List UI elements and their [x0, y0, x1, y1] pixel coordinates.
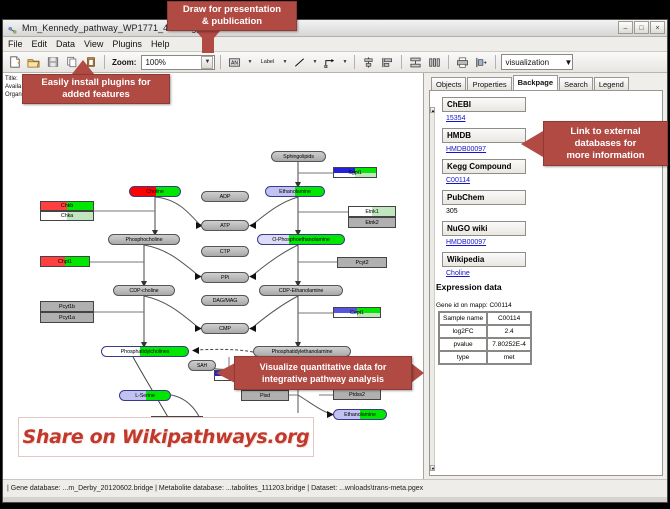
node-cmp[interactable]: CMP	[201, 323, 249, 334]
scroll-down-arrow[interactable]: ▼	[430, 465, 435, 471]
expr-val-pvalue: 7.80252E-4	[487, 338, 531, 351]
canvas-info-block: Title: Availa Organi	[5, 75, 23, 99]
toolbar-separator	[104, 55, 105, 69]
toolbar-separator	[220, 55, 221, 69]
table-row: type met	[439, 351, 531, 364]
node-etnk2[interactable]: Etnk2	[348, 217, 396, 228]
expr-key-sample-name: Sample name	[439, 312, 487, 325]
datanode-icon[interactable]: AN	[226, 54, 243, 71]
node-cdp-ethanolamine[interactable]: CDP-Ethanolamine	[259, 285, 343, 296]
tab-objects[interactable]: Objects	[431, 77, 466, 91]
node-label: DAG/MAG	[213, 298, 238, 304]
node-label: Etnk1	[365, 209, 378, 215]
title-bar: Mm_Kennedy_pathway_WP1771_45176.gpml – □…	[3, 20, 667, 37]
align-center-icon[interactable]	[360, 54, 377, 71]
chevron-down-icon[interactable]: ▼	[565, 58, 573, 67]
toolbar-separator	[448, 55, 449, 69]
node-label: Etnk2	[365, 220, 378, 226]
callout-share: Share on Wikipathways.org	[18, 417, 314, 457]
zoom-value: 100%	[145, 58, 165, 67]
menu-item-data[interactable]: Data	[56, 39, 75, 49]
callout-links-line1: Link to external	[570, 126, 640, 138]
node-label: ATP	[220, 223, 230, 229]
toolbar-separator	[495, 55, 496, 69]
db-link-chebi[interactable]: 15354	[446, 115, 465, 122]
toolbar-separator	[401, 55, 402, 69]
canvas-info-title: Title:	[5, 75, 23, 83]
new-document-icon[interactable]	[6, 54, 23, 71]
toolbar-separator	[354, 55, 355, 69]
toolbar: Zoom: 100% ▼ AN ▼ Label ▼ ▼ ▼	[3, 52, 667, 73]
menu-item-help[interactable]: Help	[151, 39, 170, 49]
node-label: CMP	[219, 326, 231, 332]
window-buttons: – □ ×	[618, 21, 665, 34]
node-sphingolipids[interactable]: Sphingolipids	[271, 151, 326, 162]
save-disk-icon[interactable]	[44, 54, 61, 71]
visualization-combo[interactable]: visualization ▼	[501, 54, 573, 70]
chevron-down-icon[interactable]: ▼	[201, 56, 213, 69]
open-folder-icon[interactable]	[25, 54, 42, 71]
scroll-up-arrow[interactable]: ▲	[430, 107, 435, 113]
node-ethanolamine-top[interactable]: Ethanolamine	[265, 186, 325, 197]
tab-backpage[interactable]: Backpage	[513, 75, 558, 90]
db-header-kegg-compound: Kegg Compound	[442, 159, 526, 174]
label-tool-text: Label	[261, 59, 274, 65]
svg-text:AN: AN	[231, 60, 238, 66]
canvas-info-organism: Organi	[5, 91, 23, 99]
node-phosphocholine[interactable]: Phosphocholine	[108, 234, 180, 245]
backpage-scrollbar[interactable]: ▲ ▼	[430, 113, 435, 465]
node-label: Pcyt1a	[59, 315, 75, 321]
callout-visualize-left-arrow	[216, 363, 235, 383]
callout-visualize-line2: integrative pathway analysis	[262, 373, 384, 385]
line-tool-icon[interactable]	[291, 54, 308, 71]
callout-plugins: Easily install plugins for added feature…	[22, 74, 170, 104]
distribute-icon[interactable]	[426, 54, 443, 71]
db-header-chebi: ChEBI	[442, 97, 526, 112]
label-tool-button[interactable]: Label	[256, 54, 278, 71]
node-cdp-choline[interactable]: CDP-choline	[113, 285, 175, 296]
node-label: Sphingolipids	[283, 154, 314, 160]
node-l-serine-left[interactable]: L-Serine	[119, 390, 171, 401]
node-label: Chpt1	[58, 259, 72, 265]
menu-item-plugins[interactable]: Plugins	[112, 39, 142, 49]
node-chpt1[interactable]: Chpt1	[40, 256, 90, 267]
db-header-pubchem: PubChem	[442, 190, 526, 205]
table-row: log2FC 2.4	[439, 325, 531, 338]
zoom-combo[interactable]: 100% ▼	[141, 55, 215, 70]
node-ethanolamine-bottom[interactable]: Ethanolamine	[333, 409, 387, 420]
callout-links-arrow	[521, 131, 543, 157]
status-bar: | Gene database: ...m_Derby_20120602.bri…	[3, 479, 667, 497]
node-label: Cept1	[350, 310, 364, 316]
callout-draw-line1: Draw for presentation	[183, 4, 281, 16]
callout-draw-arrow-stem	[202, 31, 214, 53]
gene-id-line: Gene id on mapp: C00114	[436, 302, 662, 309]
datanode-dropdown-icon[interactable]: ▼	[245, 54, 254, 71]
db-link-nugo-wiki[interactable]: HMDB00097	[446, 239, 486, 246]
close-button[interactable]: ×	[650, 21, 665, 34]
node-chkb[interactable]: Chkb	[40, 201, 94, 211]
label-dropdown-icon[interactable]: ▼	[280, 54, 289, 71]
db-value-pubchem: 305	[446, 208, 458, 215]
node-label: Ethanolamine	[279, 189, 311, 195]
node-adp[interactable]: ADP	[201, 191, 249, 202]
node-label: Phosphatidylcholines	[121, 349, 170, 355]
node-atp[interactable]: ATP	[201, 220, 249, 231]
node-pisd[interactable]: Pisd	[241, 390, 289, 401]
callout-plugins-line2: added features	[62, 89, 130, 101]
tab-legend[interactable]: Legend	[594, 77, 629, 91]
db-link-wikipedia[interactable]: Choline	[446, 270, 470, 277]
node-pcyt1b[interactable]: Pcyt1b	[40, 301, 94, 312]
interaction-tool-icon[interactable]	[321, 54, 338, 71]
node-label: PPi	[221, 275, 229, 281]
table-row: pvalue 7.80252E-4	[439, 338, 531, 351]
node-chka[interactable]: Chka	[40, 211, 94, 221]
status-bar-text: | Gene database: ...m_Derby_20120602.bri…	[7, 485, 423, 492]
minimize-button[interactable]: –	[618, 21, 633, 34]
bring-to-front-icon[interactable]	[473, 54, 490, 71]
node-label: Choline	[146, 189, 164, 195]
callout-links-line2: databases for	[575, 138, 637, 150]
node-label: CTP	[220, 249, 230, 255]
db-header-nugo-wiki: NuGO wiki	[442, 221, 526, 236]
callout-share-text: Share on Wikipathways.org	[23, 426, 310, 448]
node-ppi[interactable]: PPi	[201, 272, 249, 283]
node-label: CDP-choline	[129, 288, 158, 294]
expr-key-pvalue: pvalue	[439, 338, 487, 351]
print-icon[interactable]	[454, 54, 471, 71]
node-label: Chka	[61, 213, 73, 219]
node-label: Phosphocholine	[126, 237, 163, 243]
expr-val-sample-name: C00114	[487, 312, 531, 325]
node-label: Pcyt2	[356, 260, 369, 266]
node-etnk1[interactable]: Etnk1	[348, 206, 396, 217]
canvas-info-availability: Availa	[5, 83, 23, 91]
expr-val-type: met	[487, 351, 531, 364]
node-label: CDP-Ethanolamine	[279, 288, 324, 294]
menu-bar: File Edit Data View Plugins Help	[3, 37, 667, 52]
tab-properties[interactable]: Properties	[467, 77, 511, 91]
node-label: SAH	[197, 363, 207, 369]
menu-item-view[interactable]: View	[84, 39, 103, 49]
maximize-button[interactable]: □	[634, 21, 649, 34]
expression-data-heading: Expression data	[436, 282, 662, 292]
node-label: Pisd	[260, 393, 270, 399]
node-label: Phosphatidylethanolamine	[272, 349, 333, 355]
node-ptdss2[interactable]: Ptdss2	[333, 389, 381, 400]
expr-key-log2fc: log2FC	[439, 325, 487, 338]
node-label: Ethanolamine	[344, 412, 376, 418]
align-left-icon[interactable]	[379, 54, 396, 71]
visualization-value: visualization	[505, 58, 549, 67]
node-label: Ptdss2	[349, 392, 365, 398]
db-header-hmdb: HMDB	[442, 128, 526, 143]
db-link-hmdb[interactable]: HMDB00097	[446, 146, 486, 153]
line-dropdown-icon[interactable]: ▼	[310, 54, 319, 71]
db-link-kegg-compound[interactable]: C00114	[446, 177, 470, 184]
callout-plugins-line1: Easily install plugins for	[41, 77, 150, 89]
callout-draw: Draw for presentation & publication	[167, 1, 297, 31]
node-ctp[interactable]: CTP	[201, 246, 249, 257]
node-label: ADP	[220, 194, 231, 200]
table-row: Sample name C00114	[439, 312, 531, 325]
node-label: L-Serine	[135, 393, 155, 399]
menu-item-edit[interactable]: Edit	[32, 39, 48, 49]
node-label: Pcyt1b	[59, 304, 75, 310]
node-o-phosphoethanolamine[interactable]: O-Phosphoethanolamine	[257, 234, 345, 245]
expression-table: Sample name C00114 log2FC 2.4 pvalue 7.8…	[438, 311, 532, 365]
node-label: O-Phosphoethanolamine	[272, 237, 330, 243]
node-pcyt2[interactable]: Pcyt2	[337, 257, 387, 268]
app-icon	[7, 23, 18, 34]
node-dagmag[interactable]: DAG/MAG	[201, 295, 249, 306]
callout-draw-line2: & publication	[202, 16, 262, 28]
zoom-label: Zoom:	[112, 58, 136, 67]
node-label: Sgpl1	[348, 170, 361, 176]
tab-search[interactable]: Search	[559, 77, 593, 91]
node-pcyt1a[interactable]: Pcyt1a	[40, 312, 94, 323]
callout-visualize: Visualize quantitative data for integrat…	[234, 356, 412, 390]
node-choline-top[interactable]: Choline	[129, 186, 181, 197]
stack-vertical-icon[interactable]	[407, 54, 424, 71]
db-header-wikipedia: Wikipedia	[442, 252, 526, 267]
callout-links: Link to external databases for more info…	[543, 121, 668, 166]
menu-item-file[interactable]: File	[8, 39, 23, 49]
expr-key-type: type	[439, 351, 487, 364]
interaction-dropdown-icon[interactable]: ▼	[340, 54, 349, 71]
callout-links-line3: more information	[566, 150, 644, 162]
node-label: Chkb	[61, 203, 73, 209]
node-phosphatidylcholines[interactable]: Phosphatidylcholines	[101, 346, 189, 357]
node-sah[interactable]: SAH	[188, 360, 216, 371]
side-panel-tabs: Objects Properties Backpage Search Legen…	[431, 76, 629, 91]
expr-val-log2fc: 2.4	[487, 325, 531, 338]
callout-visualize-line1: Visualize quantitative data for	[260, 361, 387, 373]
callout-visualize-right-notch	[411, 363, 424, 383]
